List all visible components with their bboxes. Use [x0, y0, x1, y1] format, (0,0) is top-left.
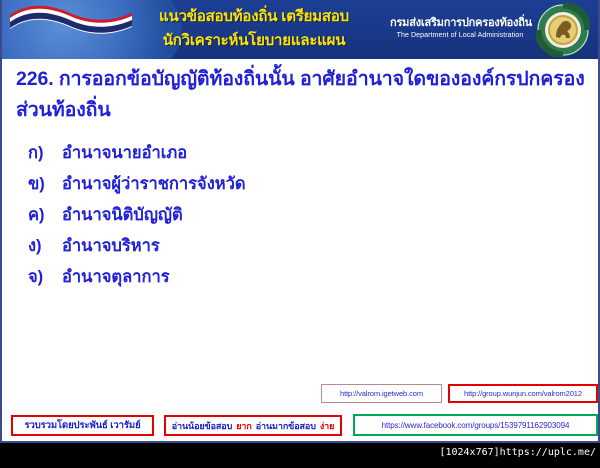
banner-title-line1: แนวข้อสอบท้องถิ่น เตรียมสอบ: [120, 5, 388, 29]
answer-option-ngo[interactable]: ง) อำนาจบริหาร: [24, 233, 454, 264]
link-box-wunjun[interactable]: http://group.wunjun.com/valrom2012: [448, 384, 598, 403]
motto-highlight-easy: ง่าย: [320, 419, 334, 433]
answer-options-list: ก) อำนาจนายอำเภอ ข) อำนาจผู้ว่าราชการจัง…: [24, 140, 454, 295]
question-text: 226. การออกข้อบัญญัติท้องถิ่นนั้น อาศัยอ…: [16, 64, 588, 126]
slide-canvas: แนวข้อสอบท้องถิ่น เตรียมสอบ นักวิเคราะห์…: [0, 0, 600, 443]
answer-option-kho2[interactable]: ค) อำนาจนิติบัญญัติ: [24, 202, 454, 233]
motto-part1: อ่านน้อยข้อสอบ: [172, 419, 233, 433]
footer-bar: [1024x767]https://uplc.me/: [0, 443, 600, 468]
screenshot-root: แนวข้อสอบท้องถิ่น เตรียมสอบ นักวิเคราะห์…: [0, 0, 600, 468]
answer-option-kho[interactable]: ข) อำนาจผู้ว่าราชการจังหวัด: [24, 171, 454, 202]
option-key: ง): [24, 233, 62, 259]
header-banner: แนวข้อสอบท้องถิ่น เตรียมสอบ นักวิเคราะห์…: [2, 0, 600, 59]
option-key: จ): [24, 264, 62, 290]
department-name: กรมส่งเสริมการปกครองท้องถิ่น The Departm…: [390, 16, 530, 41]
link-box-igetweb[interactable]: http://valrom.igetweb.com: [321, 384, 442, 403]
footer-watermark: [1024x767]https://uplc.me/: [439, 447, 596, 458]
motto-part2: อ่านมากข้อสอบ: [256, 419, 316, 433]
thai-flag-icon: [8, 1, 134, 45]
option-label: อำนาจนายอำเภอ: [62, 140, 454, 166]
option-label: อำนาจบริหาร: [62, 233, 454, 259]
motto-box: อ่านน้อยข้อสอบยาก อ่านมากข้อสอบง่าย: [164, 415, 342, 436]
department-name-english: The Department of Local Administration: [390, 30, 530, 41]
link-text-wunjun: http://group.wunjun.com/valrom2012: [464, 389, 582, 398]
answer-option-ka[interactable]: ก) อำนาจนายอำเภอ: [24, 140, 454, 171]
link-box-facebook[interactable]: https://www.facebook.com/groups/15397911…: [353, 414, 598, 436]
link-text-facebook: https://www.facebook.com/groups/15397911…: [382, 421, 570, 430]
option-label: อำนาจตุลาการ: [62, 264, 454, 290]
banner-title: แนวข้อสอบท้องถิ่น เตรียมสอบ นักวิเคราะห์…: [120, 5, 388, 53]
option-key: ก): [24, 140, 62, 166]
link-text-igetweb: http://valrom.igetweb.com: [340, 389, 423, 398]
author-credit-text: รวบรวมโดยประพันธ์ เวารัมย์: [24, 418, 140, 433]
author-credit-box: รวบรวมโดยประพันธ์ เวารัมย์: [11, 415, 154, 436]
banner-title-line2: นักวิเคราะห์นโยบายและแผน: [120, 29, 388, 53]
motto-highlight-hard: ยาก: [236, 419, 251, 433]
answer-option-cho[interactable]: จ) อำนาจตุลาการ: [24, 264, 454, 295]
option-label: อำนาจนิติบัญญัติ: [62, 202, 454, 228]
option-key: ค): [24, 202, 62, 228]
department-name-thai: กรมส่งเสริมการปกครองท้องถิ่น: [390, 16, 530, 30]
government-seal-icon: [536, 3, 590, 57]
option-label: อำนาจผู้ว่าราชการจังหวัด: [62, 171, 454, 197]
option-key: ข): [24, 171, 62, 197]
